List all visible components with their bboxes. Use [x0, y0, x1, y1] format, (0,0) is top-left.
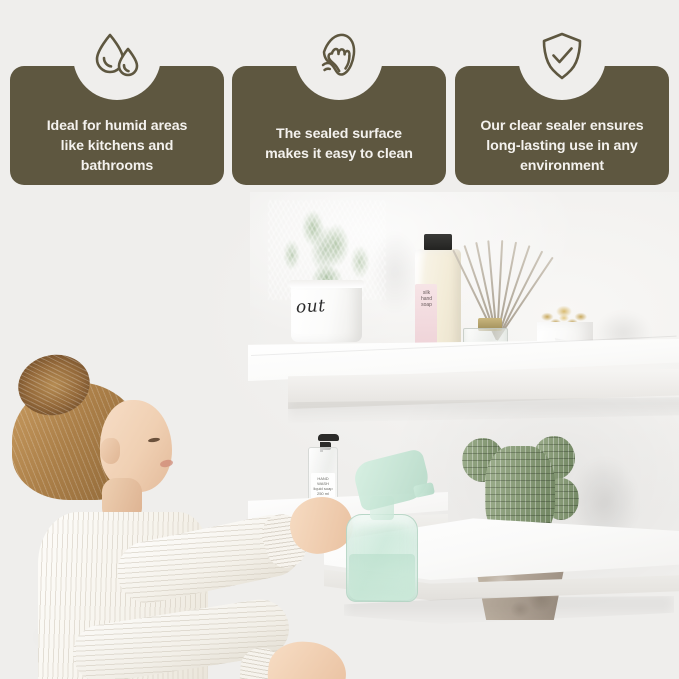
spray-bottle-nozzle	[413, 482, 435, 498]
spray-bottle-trigger	[351, 448, 432, 512]
amber-bottle-cap	[424, 234, 452, 250]
product-photo-scene: out silk hand soap HAND WASH liquid soap…	[0, 192, 679, 679]
feature-badge-text-1: Ideal for humid areas like kitchens and …	[17, 116, 217, 176]
potted-greenery-pot-rim	[289, 280, 364, 288]
spray-bottle-liquid	[349, 554, 415, 600]
feature-badge-row: Ideal for humid areas like kitchens and …	[0, 0, 679, 192]
potted-greenery-pot-script: out	[296, 294, 359, 317]
child-ear	[100, 438, 120, 464]
amber-bottle-label-text: silk hand soap	[417, 290, 436, 308]
shield-check-icon	[518, 12, 606, 100]
water-droplets-icon	[73, 12, 161, 100]
feature-badge-text-2: The sealed surface makes it easy to clea…	[239, 124, 439, 176]
hand-wiping-cloth-icon	[295, 12, 383, 100]
feature-badge-text-3: Our clear sealer ensures long-lasting us…	[462, 116, 662, 176]
mint-green-spray-bottle	[330, 448, 438, 608]
